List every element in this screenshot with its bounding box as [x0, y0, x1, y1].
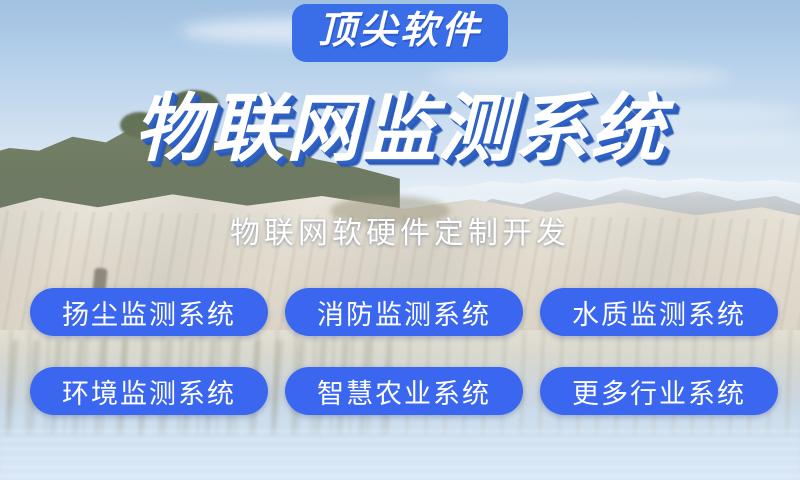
pill-environment-monitoring-system[interactable]: 环境监测系统 — [30, 367, 268, 415]
pill-label: 环境监测系统 — [62, 372, 236, 411]
pill-label: 更多行业系统 — [572, 372, 746, 411]
system-category-list: 扬尘监测系统 消防监测系统 水质监测系统 环境监测系统 智慧农业系统 更多行业系… — [30, 288, 778, 415]
pill-smart-agriculture-system[interactable]: 智慧农业系统 — [285, 367, 523, 415]
pill-label: 扬尘监测系统 — [62, 293, 236, 332]
pill-label: 水质监测系统 — [572, 293, 746, 332]
pill-fire-monitoring-system[interactable]: 消防监测系统 — [285, 288, 523, 336]
brand-badge: 顶尖软件 — [292, 4, 508, 62]
page-subtitle: 物联网软硬件定制开发 — [0, 208, 800, 252]
promo-banner: 顶尖软件 物联网监测系统 物联网软硬件定制开发 扬尘监测系统 消防监测系统 水质… — [0, 0, 800, 480]
banner-content: 顶尖软件 物联网监测系统 物联网软硬件定制开发 扬尘监测系统 消防监测系统 水质… — [0, 0, 800, 480]
pill-more-industry-systems[interactable]: 更多行业系统 — [540, 367, 778, 415]
pill-water-quality-monitoring-system[interactable]: 水质监测系统 — [540, 288, 778, 336]
pill-dust-monitoring-system[interactable]: 扬尘监测系统 — [30, 288, 268, 336]
pill-label: 消防监测系统 — [317, 293, 491, 332]
pill-label: 智慧农业系统 — [317, 372, 491, 411]
page-title: 物联网监测系统 — [0, 88, 800, 171]
